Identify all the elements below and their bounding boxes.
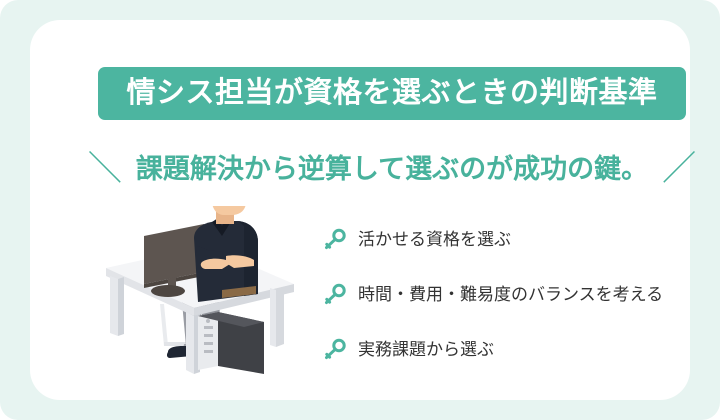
page-title: 情シス担当が資格を選ぶときの判断基準: [126, 79, 657, 108]
list-item: 実務課題から選ぶ: [322, 333, 692, 366]
subtitle-row: ＼ 課題解決から逆算して選ぶのが成功の鍵。 ／: [90, 147, 694, 191]
list-item: 時間・費用・難易度のバランスを考える: [322, 278, 692, 311]
list-item-label: 時間・費用・難易度のバランスを考える: [358, 286, 663, 303]
content-card: 情シス担当が資格を選ぶときの判断基準 ＼ 課題解決から逆算して選ぶのが成功の鍵。…: [30, 20, 690, 400]
subtitle-text: 課題解決から逆算して選ぶのが成功の鍵。: [136, 156, 648, 183]
left-slash-decoration: ＼: [88, 152, 122, 186]
pc-tower-icon: [198, 312, 264, 374]
key-icon: [322, 338, 348, 362]
list-item-label: 実務課題から選ぶ: [358, 341, 494, 358]
key-icon: [322, 228, 348, 252]
person-at-desk-illustration: [98, 206, 298, 391]
page-root: 情シス担当が資格を選ぶときの判断基準 ＼ 課題解決から逆算して選ぶのが成功の鍵。…: [0, 0, 720, 420]
list-item-label: 活かせる資格を選ぶ: [358, 231, 511, 248]
right-slash-decoration: ／: [662, 152, 696, 186]
title-banner: 情シス担当が資格を選ぶときの判断基準: [98, 67, 686, 120]
list-item: 活かせる資格を選ぶ: [322, 223, 692, 256]
criteria-list: 活かせる資格を選ぶ 時間・費用・難易度のバランスを考える 実務課題から選ぶ: [322, 223, 692, 366]
key-icon: [322, 283, 348, 307]
